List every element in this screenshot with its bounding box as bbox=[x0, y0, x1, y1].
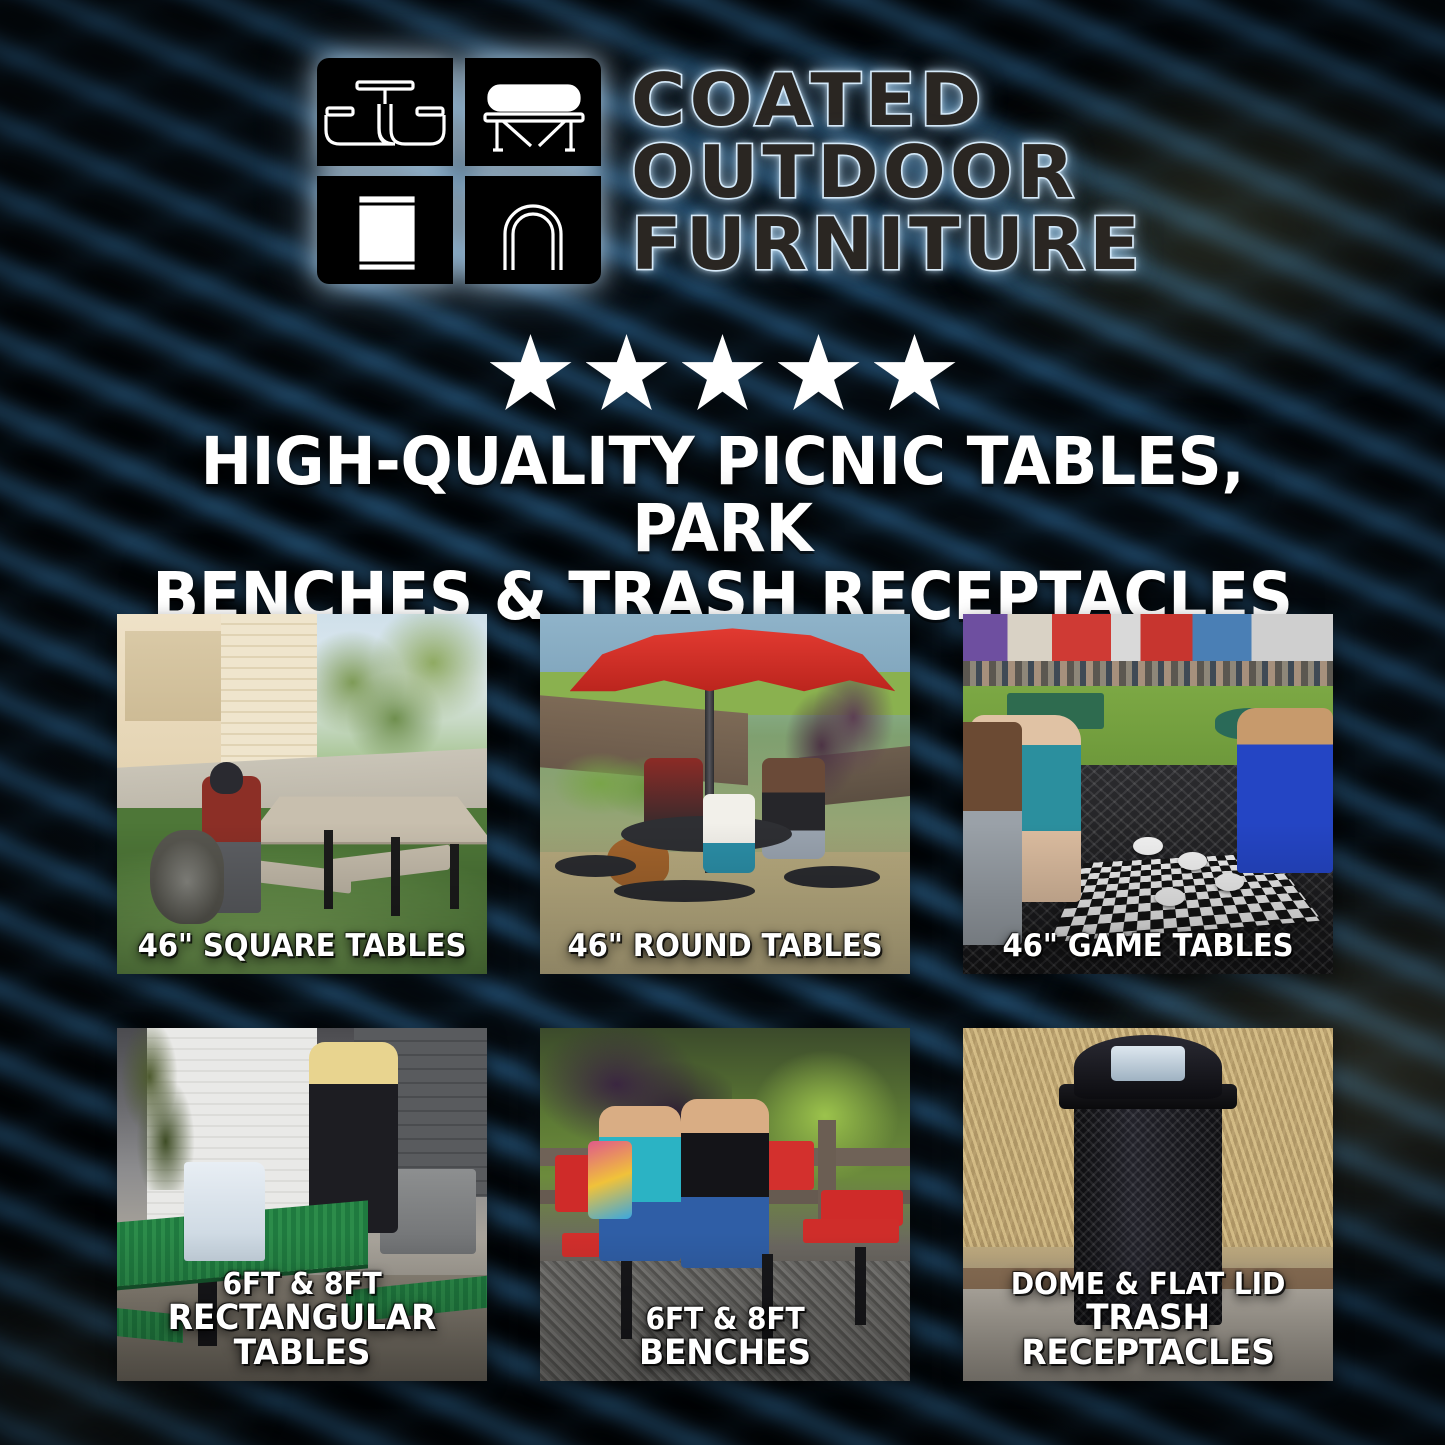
brand-wordmark: COATED OUTDOOR FURNITURE bbox=[631, 62, 1129, 279]
headline-line-1: HIGH-QUALITY PICNIC TABLES, PARK bbox=[106, 428, 1338, 563]
product-grid: 46" SQUARE TABLES bbox=[117, 614, 1328, 1381]
star-icon bbox=[490, 334, 572, 414]
product-photo-round-tables bbox=[540, 614, 910, 974]
product-caption-game-tables: 46" GAME TABLES bbox=[978, 931, 1318, 962]
product-tile-trash-receptacles[interactable]: DOME & FLAT LID TRASH RECEPTACLES bbox=[963, 1028, 1333, 1381]
product-tile-rectangular-tables[interactable]: 6FT & 8FT RECTANGULAR TABLES bbox=[117, 1028, 487, 1381]
caption-line-1: 46" ROUND TABLES bbox=[555, 931, 895, 962]
wordmark-line-3: FURNITURE bbox=[631, 210, 1144, 280]
product-tile-round-tables[interactable]: 46" ROUND TABLES bbox=[540, 614, 910, 974]
product-tile-square-tables[interactable]: 46" SQUARE TABLES bbox=[117, 614, 487, 974]
wordmark-line-2: OUTDOOR bbox=[631, 138, 1078, 208]
product-caption-rectangular-tables: 6FT & 8FT RECTANGULAR TABLES bbox=[132, 1270, 472, 1371]
star-rating bbox=[0, 334, 1445, 414]
star-icon bbox=[874, 334, 956, 414]
promo-banner: COATED OUTDOOR FURNITURE HIGH-QUALITY PI… bbox=[0, 0, 1445, 1445]
caption-line-2: TRASH RECEPTACLES bbox=[978, 1301, 1318, 1371]
product-caption-round-tables: 46" ROUND TABLES bbox=[555, 931, 895, 962]
product-caption-square-tables: 46" SQUARE TABLES bbox=[132, 931, 472, 962]
product-tile-game-tables[interactable]: 46" GAME TABLES bbox=[963, 614, 1333, 974]
brand-logo: COATED OUTDOOR FURNITURE bbox=[0, 58, 1445, 284]
caption-line-2: RECTANGULAR TABLES bbox=[132, 1301, 472, 1371]
four-quadrant-furniture-icon bbox=[317, 58, 601, 284]
star-icon bbox=[682, 334, 764, 414]
page-title: HIGH-QUALITY PICNIC TABLES, PARK BENCHES… bbox=[106, 428, 1338, 630]
caption-line-1: 46" SQUARE TABLES bbox=[132, 931, 472, 962]
product-caption-trash-receptacles: DOME & FLAT LID TRASH RECEPTACLES bbox=[978, 1270, 1318, 1371]
product-photo-game-tables bbox=[963, 614, 1333, 974]
product-photo-square-tables bbox=[117, 614, 487, 974]
caption-line-1: 6FT & 8FT bbox=[132, 1270, 472, 1300]
caption-line-1: 46" GAME TABLES bbox=[978, 931, 1318, 962]
caption-line-2: BENCHES bbox=[555, 1336, 895, 1371]
product-caption-benches: 6FT & 8FT BENCHES bbox=[555, 1305, 895, 1371]
caption-line-1: 6FT & 8FT bbox=[555, 1305, 895, 1335]
caption-line-1: DOME & FLAT LID bbox=[978, 1270, 1318, 1300]
product-tile-benches[interactable]: 6FT & 8FT BENCHES bbox=[540, 1028, 910, 1381]
star-icon bbox=[778, 334, 860, 414]
star-icon bbox=[586, 334, 668, 414]
wordmark-line-1: COATED bbox=[631, 66, 985, 136]
